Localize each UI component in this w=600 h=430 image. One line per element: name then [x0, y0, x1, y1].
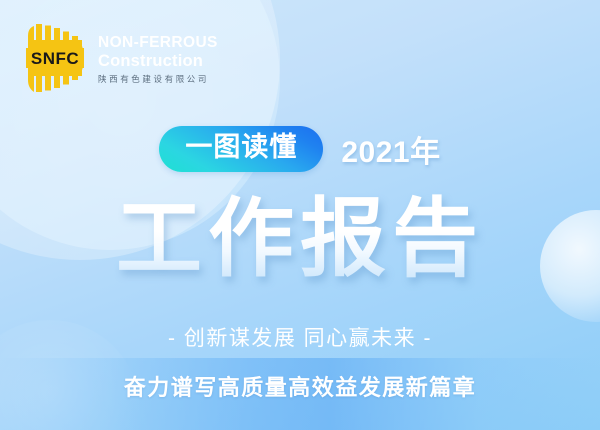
- bottom-banner: 奋力谱写高质量高效益发展新篇章: [0, 370, 600, 402]
- brand-line-3-chinese: 陕西有色建设有限公司: [98, 75, 218, 84]
- hero-badge-row: 一图读懂 2021年: [0, 126, 600, 172]
- read-in-one-chart-badge: 一图读懂: [159, 126, 323, 172]
- slogan-text: - 创新谋发展 同心赢未来 -: [168, 327, 432, 350]
- svg-text:SNFC: SNFC: [31, 49, 79, 68]
- brand-header: SNFC NON-FERROUS Construction 陕西有色建设有限公司: [22, 22, 218, 94]
- main-title-text: 工作报告: [116, 190, 484, 289]
- snfc-fan-logo-icon: SNFC: [22, 22, 88, 94]
- page-title: 工作报告: [0, 190, 600, 289]
- brand-line-1: NON-FERROUS: [98, 35, 218, 51]
- bottom-banner-text: 奋力谱写高质量高效益发展新篇章: [124, 375, 477, 400]
- year-label: 2021年: [341, 127, 440, 171]
- slogan: - 创新谋发展 同心赢未来 -: [0, 322, 600, 352]
- brand-line-2: Construction: [98, 53, 218, 70]
- poster-canvas: SNFC NON-FERROUS Construction 陕西有色建设有限公司…: [0, 0, 600, 430]
- brand-wordmark: NON-FERROUS Construction 陕西有色建设有限公司: [98, 33, 218, 84]
- badge-label: 一图读懂: [185, 133, 297, 163]
